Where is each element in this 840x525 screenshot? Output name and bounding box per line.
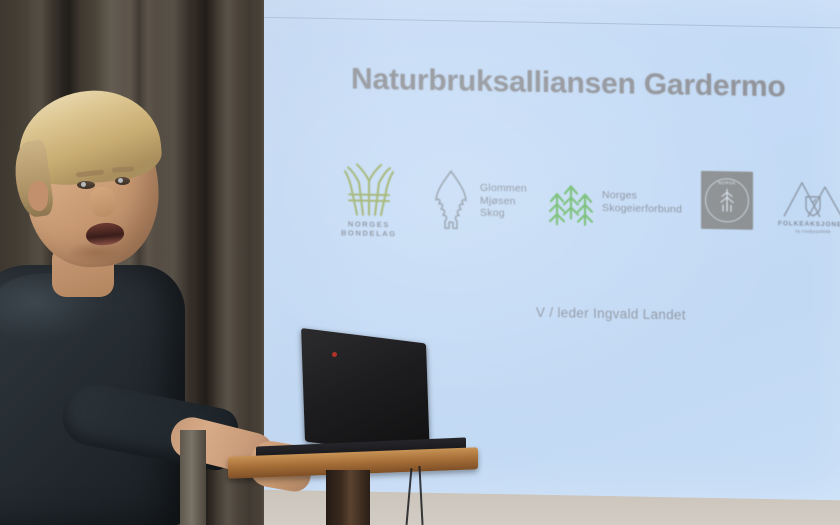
photo-scene: Naturbruksalliansen Gardermo: [0, 0, 840, 525]
badge-circle: NORSK: [705, 178, 749, 223]
podium-post: [180, 430, 206, 525]
podium-column: [326, 470, 370, 525]
logo-skogeier-line2: Skogeierforbund: [602, 202, 682, 216]
slide-title: Naturbruksalliansen Gardermo: [351, 62, 840, 106]
wheat-sheaf-icon: [343, 160, 395, 217]
speaker-eye-left: [77, 181, 95, 189]
logo-norges-bondelag: NORGES BONDELAG: [341, 160, 397, 238]
circular-seal-badge-icon: NORSK: [701, 171, 753, 230]
speaker-nose: [90, 187, 116, 217]
speaker-chin-shadow: [66, 241, 124, 263]
logo-glommen-line3: Skog: [480, 207, 527, 221]
logo-norsk-landbrukssamvirke: NORSK: [701, 171, 753, 230]
slide-subtitle: V / leder Ingvald Landet: [536, 305, 686, 323]
logo-norges-skogeierforbund: Norges Skogeierforbund: [546, 176, 682, 228]
logo-glommen-line2: Mjøsen: [480, 194, 527, 208]
laptop-brand-logo-icon: [332, 352, 337, 357]
spruce-outline-icon: [429, 168, 473, 233]
logo-folkeaksjonen: FOLKEAKSJONEN ny rovdyrpolitikk: [778, 176, 840, 235]
laptop-lid: [301, 328, 430, 457]
speaker-ear: [28, 181, 48, 211]
badge-label: NORSK: [718, 181, 736, 186]
logo-glommen-line1: Glommen: [480, 182, 527, 196]
mountains-shield-icon: [782, 176, 840, 219]
badge-tree-icon: [710, 183, 744, 218]
logo-folkeaksjonen-line2: ny rovdyrpolitikk: [795, 228, 831, 234]
three-spruce-trees-icon: [546, 176, 594, 227]
slide-logo-row: NORGES BONDELAG Glommen Mjøsen Skog: [341, 156, 840, 261]
logo-bondelag-line2: BONDELAG: [341, 228, 397, 238]
logo-glommen-mjosen-skog: Glommen Mjøsen Skog: [429, 168, 527, 234]
